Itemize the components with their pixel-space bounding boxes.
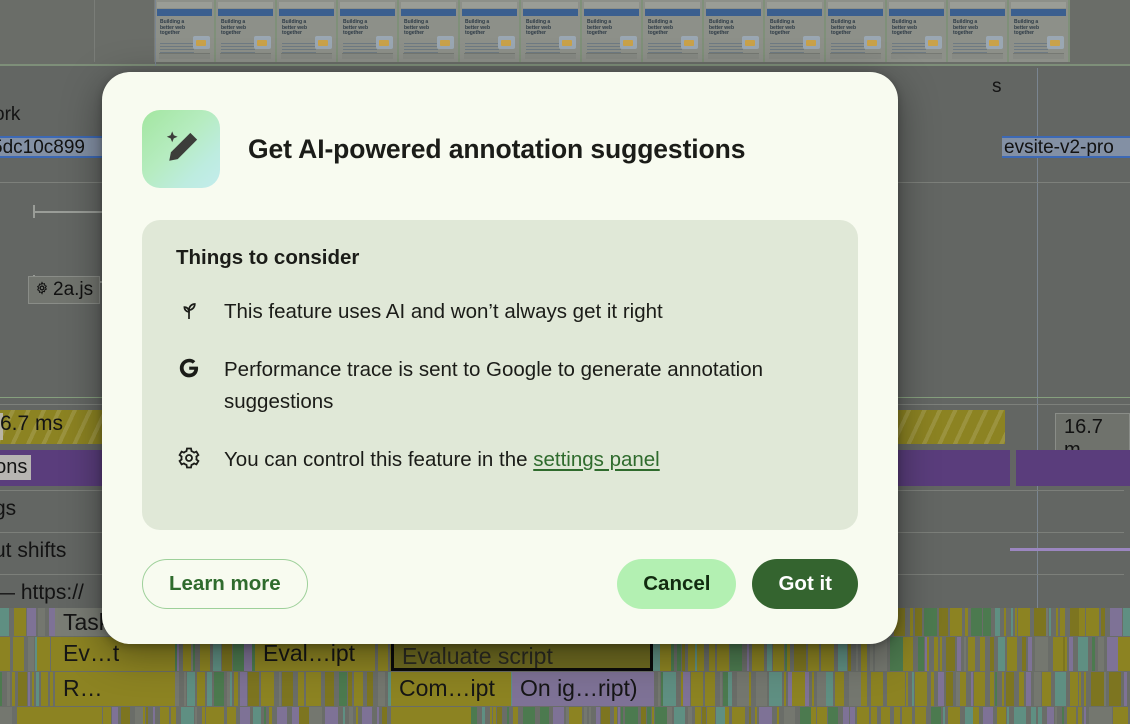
consider-item-settings-control: You can control this feature in the sett… [176,444,824,476]
dialog-title: Get AI-powered annotation suggestions [248,134,745,165]
cancel-button[interactable]: Cancel [617,559,736,609]
settings-panel-link[interactable]: settings panel [533,448,660,471]
sprout-icon [176,296,202,322]
consider-item-text-before: You can control this feature in the [224,448,533,471]
consider-item-text: This feature uses AI and won’t always ge… [224,296,663,328]
gear-icon [176,444,202,470]
consider-item-text: You can control this feature in the sett… [224,444,660,476]
ai-annotations-consent-dialog: Get AI-powered annotation suggestions Th… [102,72,898,644]
ai-magic-pencil-icon [142,110,220,188]
consider-item-ai-accuracy: This feature uses AI and won’t always ge… [176,296,824,328]
consider-item-google-trace: Performance trace is sent to Google to g… [176,354,824,418]
learn-more-button[interactable]: Learn more [142,559,308,609]
things-to-consider-heading: Things to consider [176,246,824,270]
dialog-actions: Learn more Cancel Got it [142,558,858,610]
got-it-button[interactable]: Got it [752,559,858,609]
things-to-consider-card: Things to consider This feature uses AI … [142,220,858,530]
google-g-icon [176,354,202,380]
dialog-header: Get AI-powered annotation suggestions [142,110,858,188]
consider-item-text: Performance trace is sent to Google to g… [224,354,824,418]
